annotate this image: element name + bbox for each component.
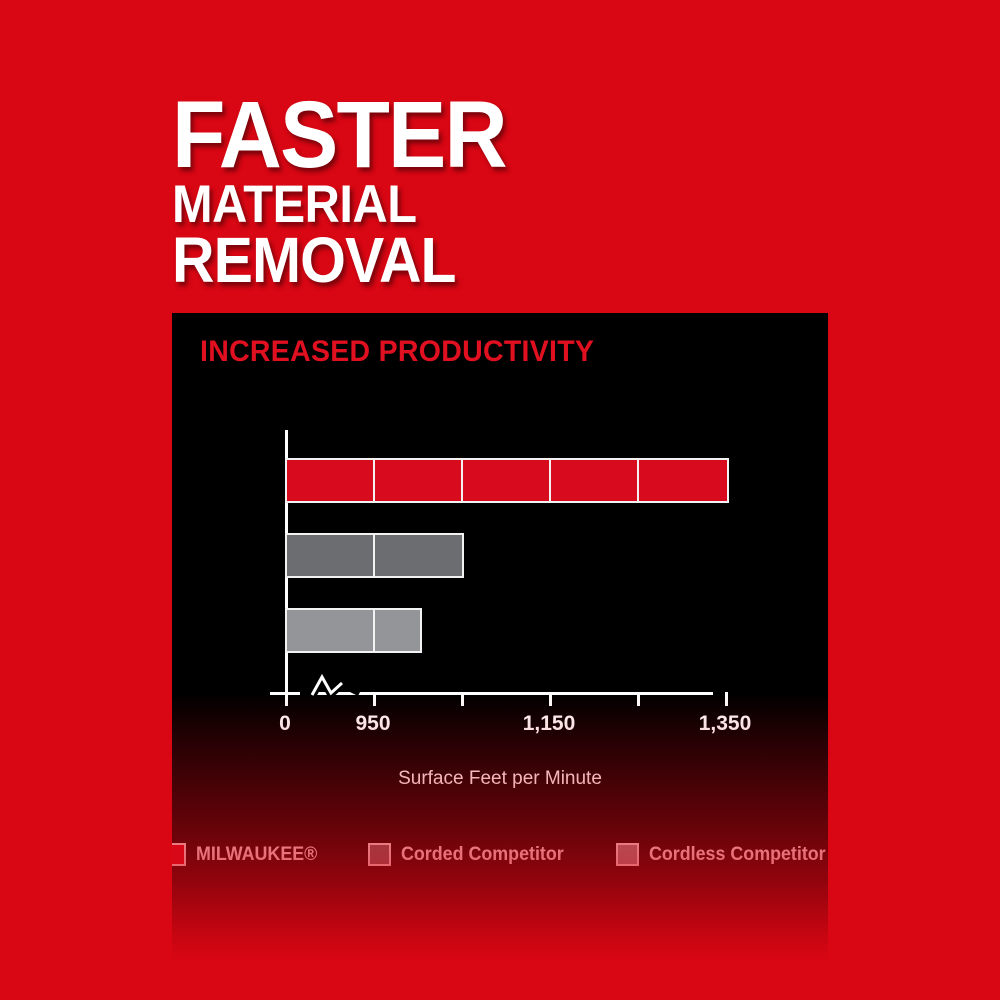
legend-swatch-corded — [368, 843, 391, 866]
x-axis-label-1350: 1,350 — [699, 712, 752, 736]
headline-block: FASTER MATERIAL REMOVAL — [172, 92, 872, 290]
bar-segment — [375, 610, 420, 651]
chart-panel: INCREASED PRODUCTIVITY 0 950 1,150 1,350 — [172, 313, 828, 960]
bar-segment — [375, 535, 462, 576]
headline-line-faster: FASTER — [172, 92, 816, 179]
x-axis-tick-origin — [285, 681, 288, 706]
legend-item-milwaukee: MILWAUKEE® — [172, 843, 326, 866]
x-axis-tick-950 — [373, 692, 376, 706]
bar-segment — [463, 460, 551, 501]
bar-segment — [639, 460, 727, 501]
bar-segment — [287, 610, 375, 651]
axis-break-icon — [300, 673, 360, 699]
x-axis-title: Surface Feet per Minute — [172, 768, 828, 790]
bar-cordless-competitor — [285, 608, 422, 653]
x-axis-tick-1050 — [461, 692, 464, 706]
bar-segment — [287, 460, 375, 501]
legend-label-milwaukee: MILWAUKEE® — [196, 844, 317, 866]
legend-label-corded: Corded Competitor — [401, 844, 564, 866]
bar-milwaukee — [285, 458, 729, 503]
legend-label-cordless: Cordless Competitor — [649, 844, 826, 866]
bar-segment — [287, 535, 375, 576]
bar-corded-competitor — [285, 533, 464, 578]
x-axis-label-950: 950 — [355, 712, 390, 736]
x-axis-tick-1250 — [637, 692, 640, 706]
x-axis-tick-1150 — [549, 692, 552, 706]
legend-swatch-milwaukee — [172, 843, 186, 866]
headline-line-removal: REMOVAL — [172, 231, 816, 290]
bar-segment — [551, 460, 639, 501]
x-axis-label-1150: 1,150 — [523, 712, 576, 736]
x-axis-label-0: 0 — [279, 712, 291, 736]
chart-legend: MILWAUKEE® Corded Competitor Cordless Co… — [172, 843, 828, 866]
bar-segment — [375, 460, 463, 501]
legend-swatch-cordless — [616, 843, 639, 866]
legend-item-cordless: Cordless Competitor — [616, 843, 828, 866]
plot-area: 0 950 1,150 1,350 Surface Feet per Minut… — [172, 313, 828, 960]
headline-line-material: MATERIAL — [172, 181, 816, 230]
legend-item-corded: Corded Competitor — [368, 843, 574, 866]
x-axis-tick-1350 — [725, 692, 728, 706]
